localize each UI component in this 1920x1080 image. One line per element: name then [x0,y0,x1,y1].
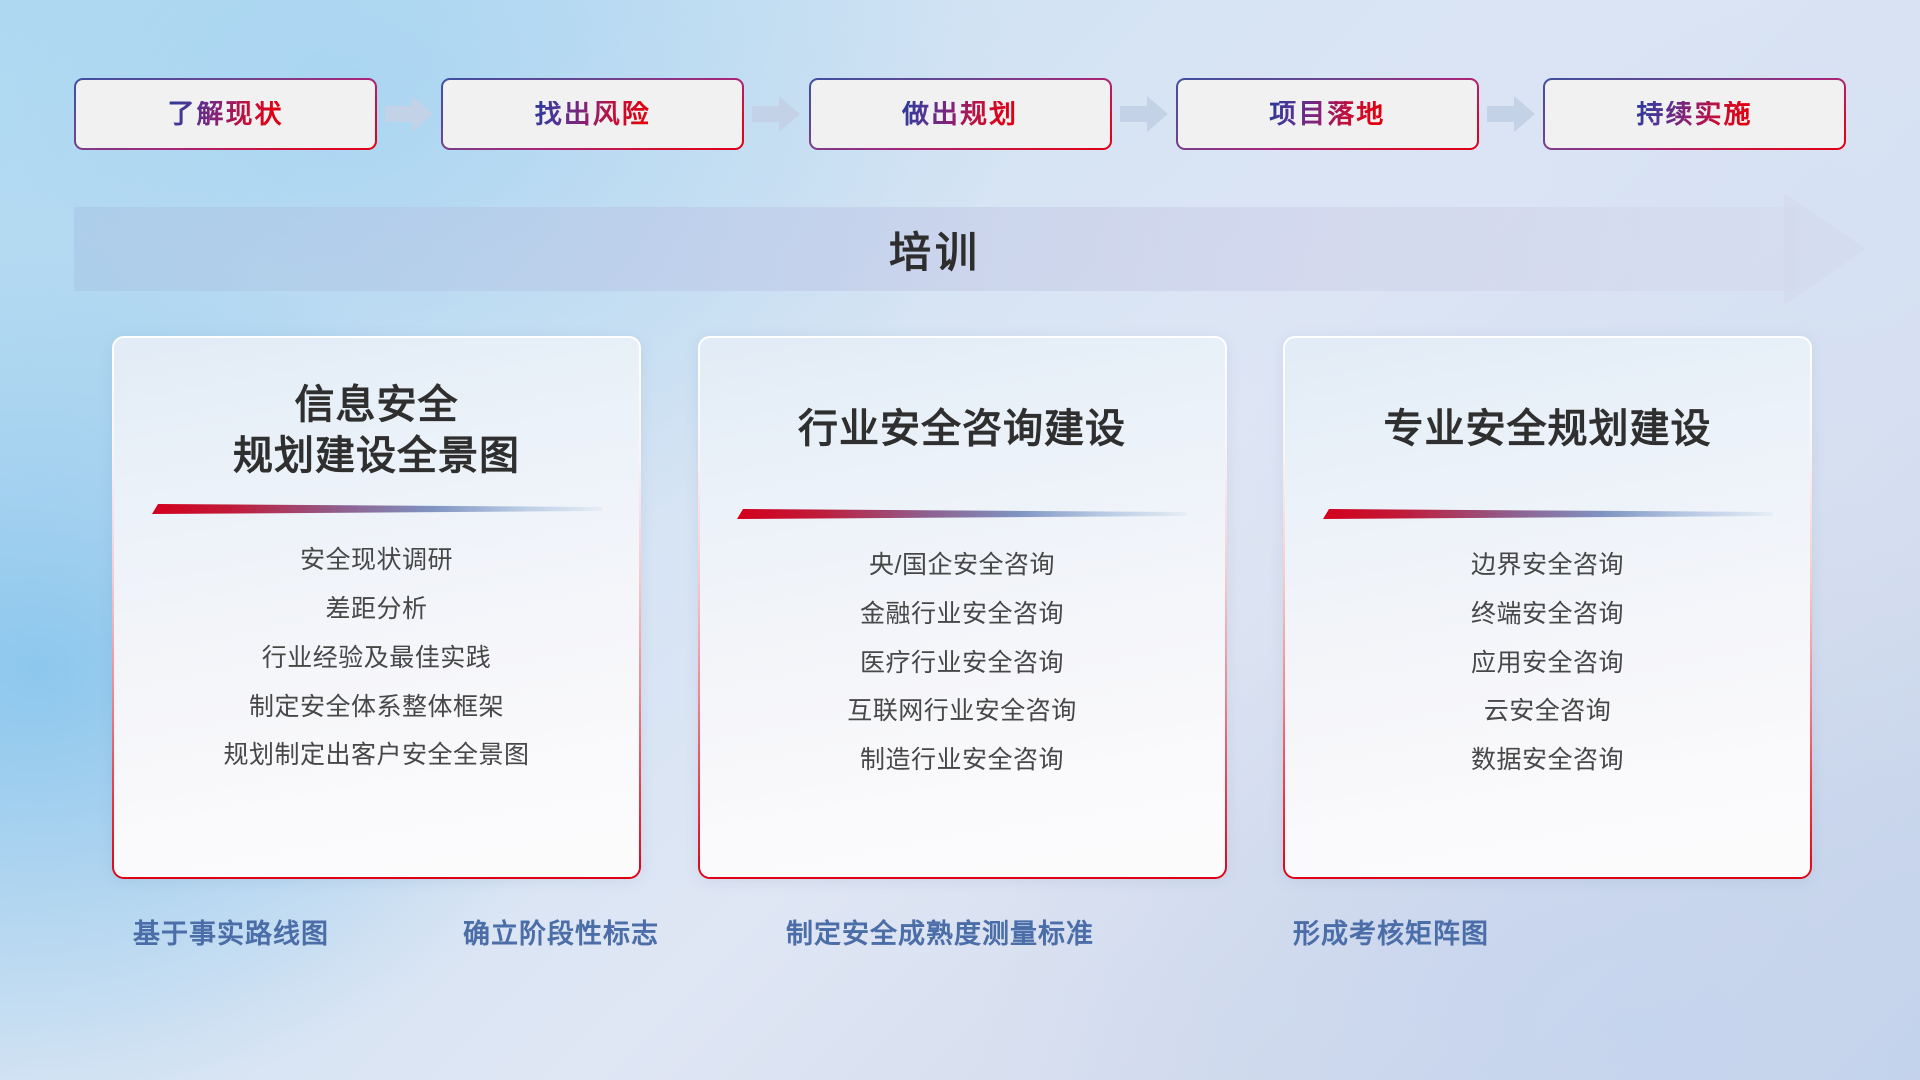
step-label-4: 项目落地 [1269,101,1385,128]
list-item: 医疗行业安全咨询 [860,644,1064,683]
card-1-list: 安全现状调研 差距分析 行业经验及最佳实践 制定安全体系整体框架 规划制定出客户… [114,541,639,775]
card-2-list: 央/国企安全咨询 金融行业安全咨询 医疗行业安全咨询 互联网行业安全咨询 制造行… [700,546,1225,780]
card-1-title: 信息安全 规划建设全景图 [233,380,520,482]
list-item: 云安全咨询 [1484,692,1612,731]
arrow-right-icon [752,94,800,134]
step-label-5: 持续实施 [1637,101,1753,128]
card-2-title-line-1: 行业安全咨询建设 [798,404,1126,455]
step-box-5[interactable]: 持续实施 [1543,78,1846,150]
arrow-right-icon [1120,94,1168,134]
list-item: 终端安全咨询 [1471,595,1624,634]
card-3-title-line-1: 专业安全规划建设 [1384,404,1712,455]
list-item: 行业经验及最佳实践 [262,639,492,678]
list-item: 数据安全咨询 [1471,741,1624,780]
caption-3: 制定安全成熟度测量标准 [786,912,1094,951]
card-2-divider [737,507,1187,520]
list-item: 制造行业安全咨询 [860,741,1064,780]
card-3-title: 专业安全规划建设 [1384,404,1712,455]
card-1-title-line-2: 规划建设全景图 [233,431,520,482]
card-2-title: 行业安全咨询建设 [798,404,1126,455]
banner-title: 培训 [74,207,1796,291]
card-3-inner: 专业安全规划建设 [1285,338,1810,877]
card-3-divider [1323,507,1773,520]
training-banner: 培训 [74,207,1864,291]
caption-row: 基于事实路线图 确立阶段性标志 制定安全成熟度测量标准 形成考核矩阵图 [0,912,1920,962]
list-item: 安全现状调研 [300,541,453,580]
caption-2: 确立阶段性标志 [463,912,659,951]
card-2-inner: 行业安全咨询建设 [700,338,1225,877]
list-item: 差距分析 [325,590,427,629]
card-1-title-line-1: 信息安全 [233,380,520,431]
card-1-inner: 信息安全 规划建设全景图 [114,338,639,877]
step-box-1[interactable]: 了解现状 [74,78,377,150]
banner-arrow-head-icon [1784,193,1866,305]
process-step-row: 了解现状 找出风险 做出规划 [74,78,1846,150]
step-label-2: 找出风险 [535,101,651,128]
card-1[interactable]: 信息安全 规划建设全景图 [112,336,641,879]
card-3-list: 边界安全咨询 终端安全咨询 应用安全咨询 云安全咨询 数据安全咨询 [1285,546,1810,780]
step-box-3[interactable]: 做出规划 [809,78,1112,150]
arrow-right-icon [385,94,433,134]
caption-4: 形成考核矩阵图 [1293,912,1489,951]
list-item: 制定安全体系整体框架 [249,688,504,727]
list-item: 互联网行业安全咨询 [847,692,1077,731]
slide-canvas: 了解现状 找出风险 做出规划 [0,0,1920,1080]
step-box-4[interactable]: 项目落地 [1176,78,1479,150]
list-item: 规划制定出客户安全全景图 [223,736,529,775]
arrow-right-icon [1487,94,1535,134]
step-label-1: 了解现状 [168,101,284,128]
step-wrap-3: 做出规划 [809,78,1112,150]
list-item: 金融行业安全咨询 [860,595,1064,634]
step-wrap-5: 持续实施 [1543,78,1846,150]
step-wrap-1: 了解现状 [74,78,377,150]
list-item: 应用安全咨询 [1471,644,1624,683]
card-1-divider [152,502,602,515]
step-wrap-2: 找出风险 [441,78,744,150]
card-3[interactable]: 专业安全规划建设 [1283,336,1812,879]
step-box-2[interactable]: 找出风险 [441,78,744,150]
card-2[interactable]: 行业安全咨询建设 [698,336,1227,879]
step-wrap-4: 项目落地 [1176,78,1479,150]
step-label-3: 做出规划 [902,101,1018,128]
card-row: 信息安全 规划建设全景图 [112,336,1812,879]
caption-1: 基于事实路线图 [133,912,329,951]
list-item: 央/国企安全咨询 [869,546,1055,585]
list-item: 边界安全咨询 [1471,546,1624,585]
